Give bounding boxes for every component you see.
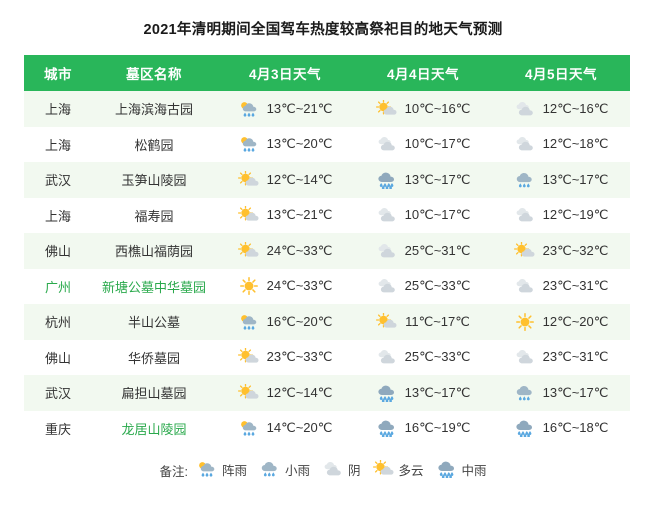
temperature-range: 24℃~33℃: [267, 243, 333, 259]
cell-cemetery-name: 龙居山陵园: [92, 411, 216, 447]
forecast-cell-inner: 13℃~21℃: [217, 199, 353, 233]
legend-item: 中雨: [436, 460, 487, 479]
cell-city: 上海: [24, 91, 92, 127]
cell-forecast-day1: 12℃~14℃: [216, 375, 354, 411]
forecast-cell-inner: 12℃~19℃: [493, 199, 629, 233]
overcast-icon: [376, 277, 398, 295]
light-rain-icon: [514, 171, 536, 189]
column-header-day2: 4月4日天气: [354, 55, 492, 91]
cell-forecast-day1: 13℃~20℃: [216, 127, 354, 163]
legend-item-label: 多云: [399, 460, 424, 479]
temperature-range: 24℃~33℃: [267, 278, 333, 294]
cell-forecast-day3: 23℃~31℃: [492, 269, 630, 305]
sunny-icon: [238, 277, 260, 295]
cell-forecast-day1: 24℃~33℃: [216, 269, 354, 305]
legend-item-label: 阴: [348, 460, 361, 479]
cell-city: 佛山: [24, 233, 92, 269]
overcast-icon: [376, 242, 398, 260]
forecast-cell-inner: 12℃~14℃: [217, 376, 353, 410]
overcast-icon: [514, 348, 536, 366]
temperature-range: 16℃~18℃: [543, 420, 609, 436]
temperature-range: 13℃~17℃: [543, 172, 609, 188]
temperature-range: 12℃~18℃: [543, 136, 609, 152]
temperature-range: 13℃~17℃: [405, 172, 471, 188]
table-row: 广州新塘公墓中华墓园24℃~33℃25℃~33℃23℃~31℃: [24, 269, 630, 305]
partly-cloudy-icon: [376, 313, 398, 331]
forecast-cell-inner: 13℃~20℃: [217, 128, 353, 162]
table-row: 重庆龙居山陵园14℃~20℃16℃~19℃16℃~18℃: [24, 411, 630, 447]
cell-forecast-day3: 12℃~19℃: [492, 198, 630, 234]
cell-cemetery-name: 福寿园: [92, 198, 216, 234]
sunny-icon: [514, 313, 536, 331]
temperature-range: 13℃~17℃: [405, 385, 471, 401]
partly-cloudy-icon: [238, 384, 260, 402]
cell-cemetery-name: 新塘公墓中华墓园: [92, 269, 216, 305]
temperature-range: 12℃~14℃: [267, 385, 333, 401]
forecast-cell-inner: 10℃~17℃: [355, 128, 491, 162]
cell-forecast-day2: 25℃~31℃: [354, 233, 492, 269]
moderate-rain-icon: [376, 384, 398, 402]
forecast-cell-inner: 13℃~21℃: [217, 92, 353, 126]
cell-cemetery-name: 半山公墓: [92, 304, 216, 340]
temperature-range: 25℃~31℃: [405, 243, 471, 259]
partly-cloudy-icon: [238, 242, 260, 260]
cell-cemetery-name: 西樵山福荫园: [92, 233, 216, 269]
legend-item: 多云: [373, 460, 424, 479]
temperature-range: 16℃~19℃: [405, 420, 471, 436]
legend-label: 备注:: [159, 461, 187, 480]
cell-city: 上海: [24, 198, 92, 234]
temperature-range: 13℃~20℃: [267, 136, 333, 152]
light-rain-icon: [259, 460, 281, 478]
overcast-icon: [514, 206, 536, 224]
forecast-cell-inner: 16℃~20℃: [217, 305, 353, 339]
shower-rain-icon: [238, 313, 260, 331]
cell-cemetery-name: 扁担山墓园: [92, 375, 216, 411]
cell-city: 上海: [24, 127, 92, 163]
partly-cloudy-icon: [376, 100, 398, 118]
table-row: 佛山华侨墓园23℃~33℃25℃~33℃23℃~31℃: [24, 340, 630, 376]
temperature-range: 13℃~21℃: [267, 101, 333, 117]
cell-forecast-day2: 13℃~17℃: [354, 375, 492, 411]
header-row: 城市 墓区名称 4月3日天气 4月4日天气 4月5日天气: [24, 55, 630, 91]
page-title: 2021年清明期间全国驾车热度较高祭祀目的地天气预测: [0, 0, 646, 39]
temperature-range: 11℃~17℃: [405, 314, 470, 330]
forecast-cell-inner: 13℃~17℃: [355, 376, 491, 410]
overcast-icon: [514, 135, 536, 153]
forecast-cell-inner: 13℃~17℃: [355, 163, 491, 197]
cell-forecast-day1: 14℃~20℃: [216, 411, 354, 447]
partly-cloudy-icon: [238, 348, 260, 366]
legend-item: 阵雨: [196, 460, 247, 479]
forecast-cell-inner: 23℃~31℃: [493, 341, 629, 375]
cell-forecast-day2: 13℃~17℃: [354, 162, 492, 198]
weather-forecast-page: 2021年清明期间全国驾车热度较高祭祀目的地天气预测 城市 墓区名称 4月3日天…: [0, 0, 646, 507]
forecast-cell-inner: 23℃~31℃: [493, 270, 629, 304]
legend-item: 小雨: [259, 460, 310, 479]
temperature-range: 10℃~16℃: [405, 101, 471, 117]
cell-city: 广州: [24, 269, 92, 305]
forecast-cell-inner: 23℃~33℃: [217, 341, 353, 375]
cell-city: 武汉: [24, 162, 92, 198]
cell-forecast-day3: 12℃~18℃: [492, 127, 630, 163]
cell-cemetery-name: 松鹤园: [92, 127, 216, 163]
shower-rain-icon: [238, 100, 260, 118]
forecast-cell-inner: 13℃~17℃: [493, 163, 629, 197]
forecast-cell-inner: 25℃~33℃: [355, 341, 491, 375]
cell-forecast-day3: 13℃~17℃: [492, 162, 630, 198]
temperature-range: 12℃~14℃: [267, 172, 333, 188]
temperature-range: 23℃~31℃: [543, 349, 609, 365]
temperature-range: 10℃~17℃: [405, 207, 471, 223]
moderate-rain-icon: [436, 460, 458, 478]
legend: 备注: 阵雨小雨阴多云中雨: [0, 460, 646, 482]
forecast-cell-inner: 12℃~20℃: [493, 305, 629, 339]
shower-rain-icon: [196, 460, 218, 478]
column-header-city: 城市: [24, 55, 92, 91]
temperature-range: 13℃~21℃: [267, 207, 333, 223]
overcast-icon: [376, 348, 398, 366]
cell-forecast-day3: 16℃~18℃: [492, 411, 630, 447]
cell-forecast-day3: 23℃~32℃: [492, 233, 630, 269]
cell-city: 佛山: [24, 340, 92, 376]
forecast-table: 城市 墓区名称 4月3日天气 4月4日天气 4月5日天气 上海上海滨海古园13℃…: [24, 55, 630, 446]
cell-city: 重庆: [24, 411, 92, 447]
overcast-icon: [376, 135, 398, 153]
cell-forecast-day3: 23℃~31℃: [492, 340, 630, 376]
cell-forecast-day2: 25℃~33℃: [354, 269, 492, 305]
temperature-range: 12℃~19℃: [543, 207, 609, 223]
partly-cloudy-icon: [238, 171, 260, 189]
table-row: 武汉玉笋山陵园12℃~14℃13℃~17℃13℃~17℃: [24, 162, 630, 198]
legend-items: 阵雨小雨阴多云中雨: [196, 460, 487, 482]
table-header: 城市 墓区名称 4月3日天气 4月4日天气 4月5日天气: [24, 55, 630, 91]
cell-forecast-day3: 13℃~17℃: [492, 375, 630, 411]
temperature-range: 16℃~20℃: [267, 314, 333, 330]
cell-forecast-day2: 10℃~16℃: [354, 91, 492, 127]
temperature-range: 10℃~17℃: [405, 136, 471, 152]
cell-cemetery-name: 上海滨海古园: [92, 91, 216, 127]
cell-city: 杭州: [24, 304, 92, 340]
cell-forecast-day3: 12℃~20℃: [492, 304, 630, 340]
cell-forecast-day1: 23℃~33℃: [216, 340, 354, 376]
legend-item-label: 小雨: [285, 460, 310, 479]
cell-forecast-day1: 24℃~33℃: [216, 233, 354, 269]
cell-forecast-day1: 16℃~20℃: [216, 304, 354, 340]
moderate-rain-icon: [376, 419, 398, 437]
light-rain-icon: [514, 384, 536, 402]
overcast-icon: [514, 100, 536, 118]
forecast-cell-inner: 24℃~33℃: [217, 234, 353, 268]
temperature-range: 12℃~16℃: [543, 101, 609, 117]
cell-cemetery-name: 玉笋山陵园: [92, 162, 216, 198]
temperature-range: 12℃~20℃: [543, 314, 609, 330]
temperature-range: 23℃~32℃: [543, 243, 609, 259]
partly-cloudy-icon: [514, 242, 536, 260]
forecast-cell-inner: 13℃~17℃: [493, 376, 629, 410]
cell-forecast-day2: 10℃~17℃: [354, 127, 492, 163]
table-body: 上海上海滨海古园13℃~21℃10℃~16℃12℃~16℃上海松鹤园13℃~20…: [24, 91, 630, 446]
temperature-range: 14℃~20℃: [267, 420, 333, 436]
shower-rain-icon: [238, 419, 260, 437]
cell-forecast-day1: 12℃~14℃: [216, 162, 354, 198]
legend-item-label: 中雨: [462, 460, 487, 479]
partly-cloudy-icon: [238, 206, 260, 224]
table-row: 上海松鹤园13℃~20℃10℃~17℃12℃~18℃: [24, 127, 630, 163]
cell-forecast-day2: 16℃~19℃: [354, 411, 492, 447]
forecast-cell-inner: 11℃~17℃: [355, 305, 491, 339]
forecast-cell-inner: 16℃~18℃: [493, 412, 629, 446]
temperature-range: 13℃~17℃: [543, 385, 609, 401]
forecast-cell-inner: 12℃~18℃: [493, 128, 629, 162]
forecast-cell-inner: 24℃~33℃: [217, 270, 353, 304]
cell-cemetery-name: 华侨墓园: [92, 340, 216, 376]
column-header-day3: 4月5日天气: [492, 55, 630, 91]
moderate-rain-icon: [376, 171, 398, 189]
overcast-icon: [514, 277, 536, 295]
cell-forecast-day1: 13℃~21℃: [216, 198, 354, 234]
forecast-cell-inner: 10℃~17℃: [355, 199, 491, 233]
forecast-cell-inner: 23℃~32℃: [493, 234, 629, 268]
forecast-cell-inner: 25℃~31℃: [355, 234, 491, 268]
table-row: 佛山西樵山福荫园24℃~33℃25℃~31℃23℃~32℃: [24, 233, 630, 269]
cell-forecast-day2: 10℃~17℃: [354, 198, 492, 234]
overcast-icon: [376, 206, 398, 224]
forecast-cell-inner: 14℃~20℃: [217, 412, 353, 446]
table-row: 上海上海滨海古园13℃~21℃10℃~16℃12℃~16℃: [24, 91, 630, 127]
legend-item: 阴: [322, 460, 361, 479]
shower-rain-icon: [238, 135, 260, 153]
table-row: 武汉扁担山墓园12℃~14℃13℃~17℃13℃~17℃: [24, 375, 630, 411]
forecast-cell-inner: 16℃~19℃: [355, 412, 491, 446]
temperature-range: 25℃~33℃: [405, 349, 471, 365]
cell-forecast-day2: 11℃~17℃: [354, 304, 492, 340]
forecast-cell-inner: 25℃~33℃: [355, 270, 491, 304]
cell-forecast-day1: 13℃~21℃: [216, 91, 354, 127]
temperature-range: 23℃~31℃: [543, 278, 609, 294]
temperature-range: 23℃~33℃: [267, 349, 333, 365]
table-row: 杭州半山公墓16℃~20℃11℃~17℃12℃~20℃: [24, 304, 630, 340]
cell-forecast-day2: 25℃~33℃: [354, 340, 492, 376]
forecast-table-wrap: 城市 墓区名称 4月3日天气 4月4日天气 4月5日天气 上海上海滨海古园13℃…: [24, 55, 622, 446]
forecast-cell-inner: 10℃~16℃: [355, 92, 491, 126]
column-header-day1: 4月3日天气: [216, 55, 354, 91]
legend-item-label: 阵雨: [222, 460, 247, 479]
partly-cloudy-icon: [373, 460, 395, 478]
cell-city: 武汉: [24, 375, 92, 411]
forecast-cell-inner: 12℃~16℃: [493, 92, 629, 126]
moderate-rain-icon: [514, 419, 536, 437]
forecast-cell-inner: 12℃~14℃: [217, 163, 353, 197]
table-row: 上海福寿园13℃~21℃10℃~17℃12℃~19℃: [24, 198, 630, 234]
overcast-icon: [322, 460, 344, 478]
temperature-range: 25℃~33℃: [405, 278, 471, 294]
column-header-cemetery: 墓区名称: [92, 55, 216, 91]
cell-forecast-day3: 12℃~16℃: [492, 91, 630, 127]
